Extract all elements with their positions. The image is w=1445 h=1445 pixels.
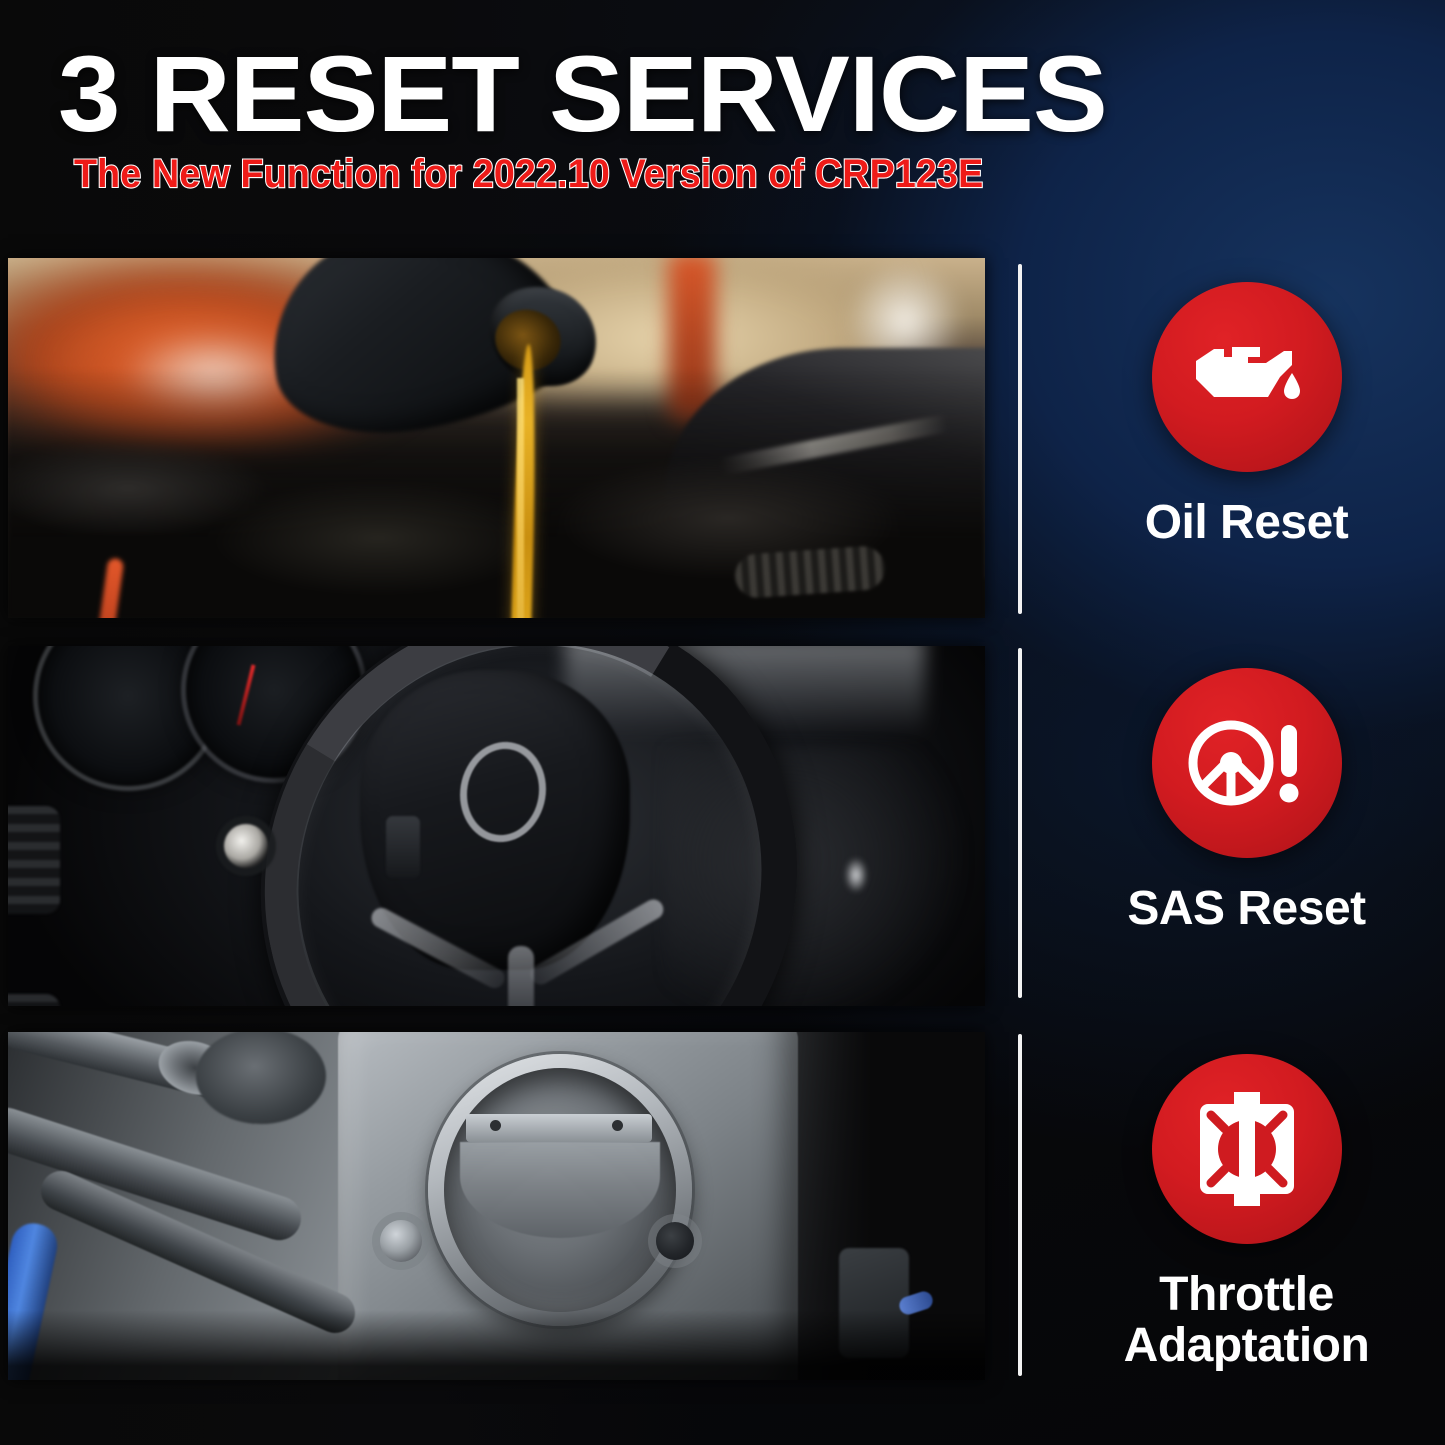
photo-panel-throttle: [8, 1032, 985, 1380]
feature-throttle-adaptation: Throttle Adaptation: [1048, 1054, 1445, 1372]
header: 3 RESET SERVICES The New Function for 20…: [0, 0, 1445, 250]
feature-label-oil: Oil Reset: [1145, 498, 1349, 549]
page-subtitle: The New Function for 2022.10 Version of …: [74, 152, 983, 197]
photo-panel-sas: [8, 646, 985, 1006]
oil-can-icon: [1152, 282, 1342, 472]
feature-label-sas: SAS Reset: [1127, 884, 1365, 935]
photo-panel-oil: [8, 258, 985, 618]
feature-label-throttle: Throttle Adaptation: [1124, 1270, 1370, 1372]
page-title: 3 RESET SERVICES: [58, 36, 1107, 153]
feature-sas-reset: SAS Reset: [1048, 668, 1445, 935]
steering-wheel-alert-icon: [1152, 668, 1342, 858]
feature-oil-reset: Oil Reset: [1048, 282, 1445, 549]
divider-line-2: [1018, 648, 1022, 998]
divider-line-3: [1018, 1034, 1022, 1376]
poster-root: 3 RESET SERVICES The New Function for 20…: [0, 0, 1445, 1445]
throttle-body-icon: [1152, 1054, 1342, 1244]
divider-line-1: [1018, 264, 1022, 614]
